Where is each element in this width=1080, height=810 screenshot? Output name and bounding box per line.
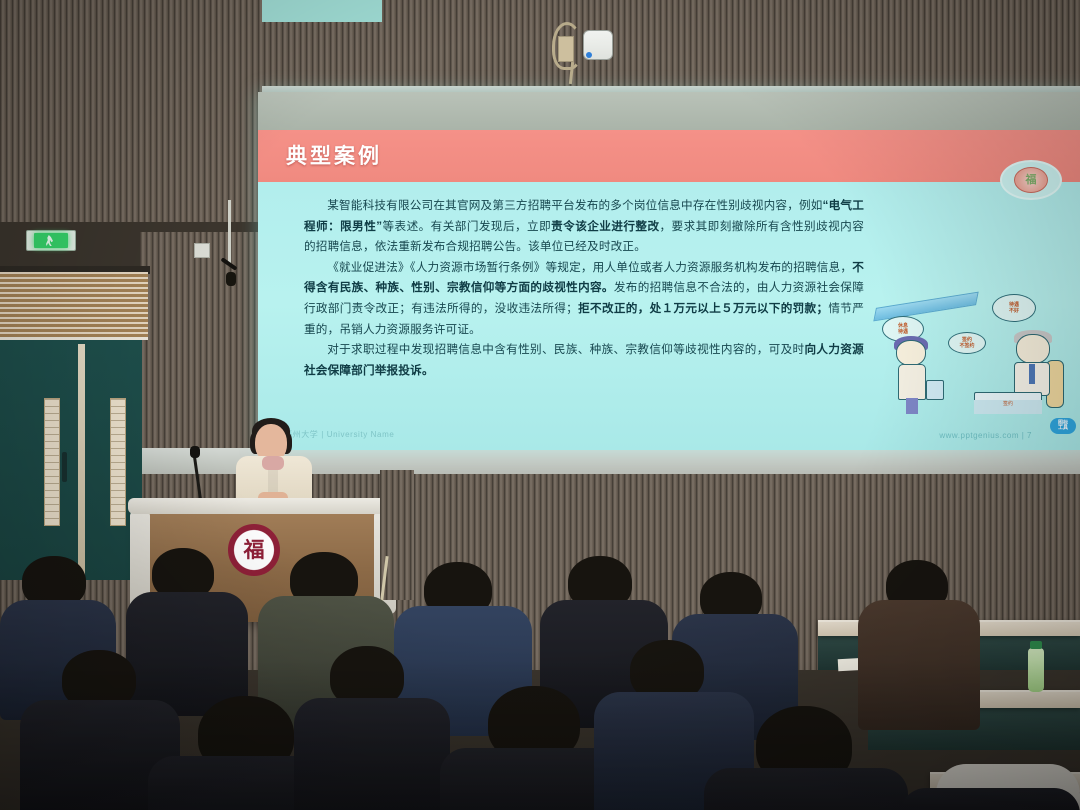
door-handle[interactable] (62, 452, 67, 482)
slide-footer-left: 福州大学 | University Name (284, 429, 394, 440)
slide-title: 典型案例 (286, 140, 382, 170)
emphasized-text: 责令该企业进行整改 (551, 220, 659, 233)
door-seam (78, 344, 85, 580)
left-wall-slats (0, 0, 262, 222)
attendee-body (294, 698, 450, 810)
speech-bubble-middle: 签约 不签约 (948, 332, 986, 354)
wall-conduit (228, 200, 231, 266)
wall-control-box[interactable] (194, 243, 210, 258)
bottle-cap (1030, 641, 1042, 649)
body-text: 《就业促进法》《人力资源市场暂行条例》等规定，用人单位或者人力资源服务机构发布的… (327, 261, 852, 274)
attendee-body (858, 600, 980, 730)
teal-wall-panel (262, 0, 382, 22)
microphone-icon (190, 446, 200, 458)
cartoon-necktie (1029, 364, 1035, 384)
security-camera-icon (226, 272, 236, 286)
running-man-icon (46, 235, 53, 246)
water-bottle (1028, 648, 1044, 692)
body-text: 对于求职过程中发现招聘信息中含有性别、民族、种族、宗教信仰等歧视性内容的，可及时 (327, 343, 804, 356)
slide-paragraph-case: 某智能科技有限公司在其官网及第三方招聘平台发布的多个岗位信息中存在性别歧视内容，… (304, 196, 864, 258)
seal-glyph: 福 (1026, 175, 1037, 186)
projection-screen: 典型案例 福 某智能科技有限公司在其官网及第三方招聘平台发布的多个岗位信息中存在… (258, 92, 1080, 450)
university-emblem-icon: 福 (228, 524, 280, 576)
attendee-body (900, 788, 1080, 810)
lecture-hall-photo: 典型案例 福 某智能科技有限公司在其官网及第三方招聘平台发布的多个岗位信息中存在… (0, 0, 1080, 810)
university-logo-notch: 福 (1000, 160, 1062, 200)
attendee-body (704, 768, 908, 810)
emphasized-text: 拒不改正的，处１万元以上５万元以下的罚款； (578, 302, 828, 315)
blue-arrow-icon (873, 292, 978, 322)
door-panel-right (110, 398, 126, 526)
cartoon-student-body (898, 364, 926, 400)
speaker-scarf (262, 456, 284, 470)
cartoon-illustration: 休息 待遇 待遇 不好 签约 不签约 签约 (874, 288, 1080, 416)
ceiling-cable-tag (558, 36, 574, 62)
exit-sign-glow (34, 233, 68, 248)
cartoon-student-head (896, 340, 926, 366)
podium-top-surface (128, 498, 400, 514)
device-led-icon (586, 52, 592, 58)
body-text: 某智能科技有限公司在其官网及第三方招聘平台发布的多个岗位信息中存在性别歧视内容，… (327, 199, 822, 212)
slide-top-band (258, 92, 1080, 130)
slide-footer-right: www.pptgenius.com | 7 (939, 431, 1032, 440)
university-seal-icon: 福 (1014, 167, 1048, 193)
emblem-glyph: 福 (244, 540, 265, 561)
exit-sign-icon (26, 230, 76, 251)
badge-line-2: 工具 (1058, 426, 1068, 431)
body-text: 等表述。有关部门发现后，立即 (382, 220, 551, 233)
cartoon-desk-label: 签约 (974, 400, 1042, 414)
speech-bubble-right: 待遇 不好 (992, 294, 1036, 322)
slide-paragraph-advice: 对于求职过程中发现招聘信息中含有性别、民族、种族、宗教信仰等歧视性内容的，可及时… (304, 340, 864, 381)
cartoon-interviewer-head (1016, 334, 1050, 364)
slide-watermark-badge: 图标 工具 (1050, 418, 1076, 434)
slide-body-text: 某智能科技有限公司在其官网及第三方招聘平台发布的多个岗位信息中存在性别歧视内容，… (304, 196, 864, 381)
cartoon-briefcase (926, 380, 944, 400)
slide-paragraph-law: 《就业促进法》《人力资源市场暂行条例》等规定，用人单位或者人力资源服务机构发布的… (304, 258, 864, 340)
cartoon-student-legs (906, 398, 918, 414)
door-panel-left (44, 398, 60, 526)
window-blinds (0, 272, 148, 340)
wall-light-band (0, 448, 1080, 474)
